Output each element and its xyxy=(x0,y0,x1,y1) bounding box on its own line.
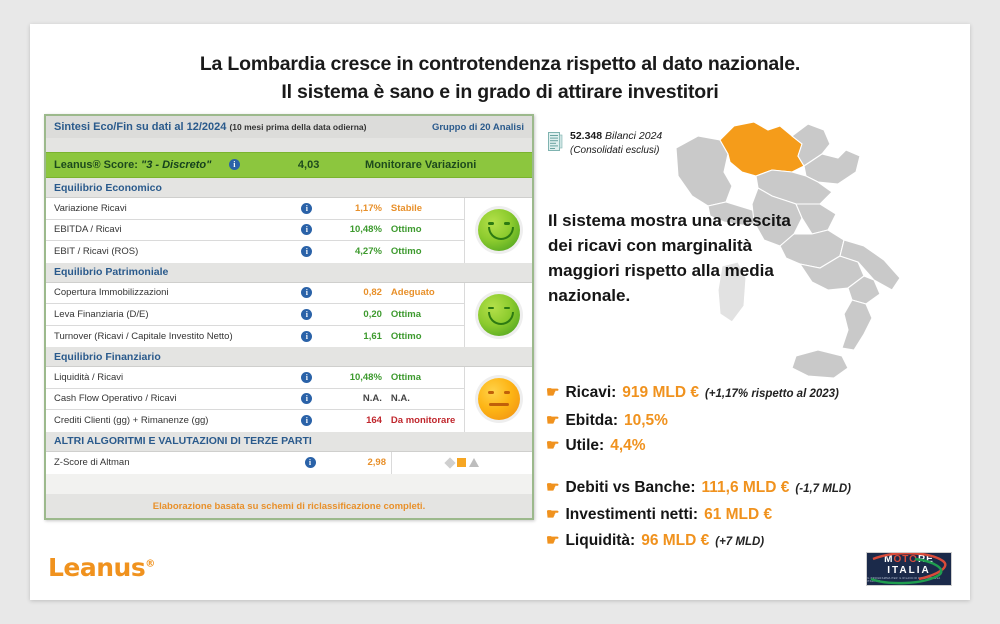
leanus-score-row: Leanus® Score: "3 - Discreto" i 4,03 Mon… xyxy=(46,152,532,178)
zscore-value: 2,98 xyxy=(331,457,391,468)
row-judgement: Adeguato xyxy=(387,287,464,298)
leanus-logo-mark: ® xyxy=(145,559,155,570)
list-item: ☛ Liquidità: 96 MLD € (+7 MLD) xyxy=(546,528,966,556)
motore-swoosh-icon xyxy=(867,553,951,585)
pointing-hand-icon: ☛ xyxy=(546,438,559,453)
table-row: EBIT / Ricavi (ROS) i 4,27% Ottimo xyxy=(46,241,464,263)
panel-header-spacer xyxy=(46,138,532,152)
row-value: N.A. xyxy=(328,393,387,404)
kpi-note: (-1,7 MLD) xyxy=(795,477,851,503)
leanus-logo: Leanus® xyxy=(48,553,155,582)
row-info[interactable]: i xyxy=(286,284,327,302)
kpi-label: Investimenti netti: xyxy=(565,502,698,528)
section-rating-cell xyxy=(464,198,532,263)
panel-header-group: Gruppo di 20 Analisi xyxy=(432,122,524,133)
table-row: EBITDA / Ricavi i 10,48% Ottimo xyxy=(46,220,464,242)
row-value: 164 xyxy=(328,415,387,426)
section-heading-altri-algoritmi: ALTRI ALGORITMI E VALUTAZIONI DI TERZE P… xyxy=(46,432,532,452)
row-judgement: Ottima xyxy=(387,372,464,383)
row-judgement: Ottimo xyxy=(387,331,464,342)
row-value: 0,82 xyxy=(328,287,387,298)
list-item: ☛ Utile: 4,4% xyxy=(546,433,966,459)
row-info[interactable]: i xyxy=(286,368,327,386)
kpi-amount: 10,5% xyxy=(624,408,668,434)
row-value: 10,48% xyxy=(328,224,387,235)
kpi-label: Debiti vs Banche: xyxy=(565,475,695,501)
title-line-2: Il sistema è sano e in grado di attirare… xyxy=(30,78,970,106)
kpi-bullet-list: ☛ Ricavi: 919 MLD € (+1,17% rispetto al … xyxy=(546,380,966,555)
row-label: EBITDA / Ricavi xyxy=(46,224,286,235)
bilanci-counter: 52.348 Bilanci 2024 (Consolidati esclusi… xyxy=(548,130,662,157)
table-row: Variazione Ricavi i 1,17% Stabile xyxy=(46,198,464,220)
kpi-note: (+1,17% rispetto al 2023) xyxy=(705,382,839,408)
info-icon[interactable]: i xyxy=(301,246,312,257)
row-judgement: Stabile xyxy=(387,203,464,214)
row-label: Turnover (Ricavi / Capitale Investito Ne… xyxy=(46,331,286,342)
leanus-score-label-value: "3 - Discreto" xyxy=(141,159,211,171)
section-heading-economico: Equilibrio Economico xyxy=(46,178,532,198)
kpi-label: Liquidità: xyxy=(565,528,635,554)
zscore-rating-symbols xyxy=(391,452,532,474)
row-judgement: N.A. xyxy=(387,393,464,404)
section-rating-cell xyxy=(464,367,532,432)
bilanci-text: 52.348 Bilanci 2024 (Consolidati esclusi… xyxy=(570,130,662,157)
title-line-1: La Lombardia cresce in controtendenza ri… xyxy=(30,50,970,78)
list-item: ☛ Debiti vs Banche: 111,6 MLD € (-1,7 ML… xyxy=(546,475,966,503)
kpi-amount: 4,4% xyxy=(610,433,645,459)
bilanci-number: 52.348 xyxy=(570,130,602,142)
pointing-hand-icon: ☛ xyxy=(546,533,559,548)
triangle-icon xyxy=(469,458,479,467)
zscore-label: Z-Score di Altman xyxy=(46,457,289,468)
info-icon[interactable]: i xyxy=(301,203,312,214)
section-economico: Variazione Ricavi i 1,17% Stabile EBITDA… xyxy=(46,198,532,263)
row-info[interactable]: i xyxy=(286,243,327,261)
list-item: ☛ Ebitda: 10,5% xyxy=(546,408,966,434)
kpi-amount: 96 MLD € xyxy=(641,528,709,554)
row-value: 4,27% xyxy=(328,246,387,257)
row-label: Copertura Immobilizzazioni xyxy=(46,287,286,298)
page-title: La Lombardia cresce in controtendenza ri… xyxy=(30,50,970,106)
document-icon xyxy=(548,132,563,151)
leanus-score-info[interactable]: i xyxy=(211,156,257,174)
row-label: Variazione Ricavi xyxy=(46,203,286,214)
row-label: Liquidità / Ricavi xyxy=(46,372,286,383)
kpi-label: Ricavi: xyxy=(565,380,616,406)
bilanci-label: Bilanci 2024 xyxy=(605,130,662,142)
kpi-group-spacer xyxy=(546,459,966,475)
table-row: Cash Flow Operativo / Ricavi i N.A. N.A. xyxy=(46,389,464,411)
smiley-happy-icon xyxy=(478,294,520,336)
kpi-label: Utile: xyxy=(565,433,604,459)
zscore-info[interactable]: i xyxy=(289,454,331,472)
leanus-score-note: Monitorare Variazioni xyxy=(319,159,532,171)
row-value: 1,61 xyxy=(328,331,387,342)
list-item: ☛ Ricavi: 919 MLD € (+1,17% rispetto al … xyxy=(546,380,966,408)
slide-canvas: La Lombardia cresce in controtendenza ri… xyxy=(30,24,970,600)
section-heading-patrimoniale: Equilibrio Patrimoniale xyxy=(46,263,532,283)
bilanci-line-1: 52.348 Bilanci 2024 xyxy=(570,130,662,144)
diamond-icon xyxy=(444,457,455,468)
kpi-group-2: ☛ Debiti vs Banche: 111,6 MLD € (-1,7 ML… xyxy=(546,475,966,556)
pointing-hand-icon: ☛ xyxy=(546,385,559,400)
info-icon[interactable]: i xyxy=(301,309,312,320)
panel-header-title: Sintesi Eco/Fin su dati al 12/2024 (10 m… xyxy=(54,121,366,133)
section-rating-cell xyxy=(464,283,532,348)
row-info[interactable]: i xyxy=(286,305,327,323)
row-info[interactable]: i xyxy=(286,199,327,217)
row-info[interactable]: i xyxy=(286,390,327,408)
section-patrimoniale: Copertura Immobilizzazioni i 0,82 Adegua… xyxy=(46,283,532,348)
info-icon[interactable]: i xyxy=(229,159,240,170)
info-icon[interactable]: i xyxy=(305,457,316,468)
kpi-amount: 111,6 MLD € xyxy=(702,475,790,501)
panel-header-title-sub: (10 mesi prima della data odierna) xyxy=(229,122,366,132)
list-item: ☛ Investimenti netti: 61 MLD € xyxy=(546,502,966,528)
info-icon[interactable]: i xyxy=(301,372,312,383)
panel-footer-note: Elaborazione basata su schemi di riclass… xyxy=(46,494,532,518)
leanus-score-value: 4,03 xyxy=(257,159,319,171)
right-content: 52.348 Bilanci 2024 (Consolidati esclusi… xyxy=(540,116,960,536)
row-label: Cash Flow Operativo / Ricavi xyxy=(46,393,286,404)
lead-paragraph: Il sistema mostra una crescita dei ricav… xyxy=(548,208,808,308)
row-info[interactable]: i xyxy=(286,412,327,430)
row-info[interactable]: i xyxy=(286,327,327,345)
section-finanziario: Liquidità / Ricavi i 10,48% Ottima Cash … xyxy=(46,367,532,432)
kpi-group-1: ☛ Ricavi: 919 MLD € (+1,17% rispetto al … xyxy=(546,380,966,459)
row-label: EBIT / Ricavi (ROS) xyxy=(46,246,286,257)
info-icon[interactable]: i xyxy=(301,224,312,235)
smiley-happy-icon xyxy=(478,209,520,251)
table-row: Turnover (Ricavi / Capitale Investito Ne… xyxy=(46,326,464,348)
table-row: Liquidità / Ricavi i 10,48% Ottima xyxy=(46,367,464,389)
row-info[interactable]: i xyxy=(286,221,327,239)
kpi-amount: 919 MLD € xyxy=(622,380,699,406)
info-icon[interactable]: i xyxy=(301,331,312,342)
square-icon xyxy=(457,458,466,467)
panel-header-title-main: Sintesi Eco/Fin su dati al 12/2024 xyxy=(54,121,226,133)
row-judgement: Ottimo xyxy=(387,246,464,257)
pointing-hand-icon: ☛ xyxy=(546,480,559,495)
leanus-score-label-prefix: Leanus® Score: xyxy=(54,159,138,171)
info-icon[interactable]: i xyxy=(301,287,312,298)
table-row: Crediti Clienti (gg) + Rimanenze (gg) i … xyxy=(46,410,464,432)
sintesi-eco-fin-panel: Sintesi Eco/Fin su dati al 12/2024 (10 m… xyxy=(44,114,534,520)
row-judgement: Ottimo xyxy=(387,224,464,235)
kpi-note: (+7 MLD) xyxy=(715,530,764,556)
kpi-amount: 61 MLD € xyxy=(704,502,772,528)
info-icon[interactable]: i xyxy=(301,393,312,404)
motore-italia-logo: MOTORE ITALIA IL PROGRAMMA PER IL RILANC… xyxy=(866,552,952,586)
leanus-score-label: Leanus® Score: "3 - Discreto" xyxy=(54,159,211,171)
table-row: Copertura Immobilizzazioni i 0,82 Adegua… xyxy=(46,283,464,305)
panel-header: Sintesi Eco/Fin su dati al 12/2024 (10 m… xyxy=(46,116,532,138)
row-label: Leva Finanziaria (D/E) xyxy=(46,309,286,320)
kpi-label: Ebitda: xyxy=(565,408,618,434)
row-judgement: Da monitorare xyxy=(387,415,464,426)
row-value: 0,20 xyxy=(328,309,387,320)
pointing-hand-icon: ☛ xyxy=(546,413,559,428)
table-row: Leva Finanziaria (D/E) i 0,20 Ottima xyxy=(46,304,464,326)
row-label: Crediti Clienti (gg) + Rimanenze (gg) xyxy=(46,415,286,426)
leanus-logo-text: Leanus xyxy=(48,553,145,582)
info-icon[interactable]: i xyxy=(301,415,312,426)
row-value: 10,48% xyxy=(328,372,387,383)
bilanci-sub: (Consolidati esclusi) xyxy=(570,144,662,158)
row-judgement: Ottima xyxy=(387,309,464,320)
pointing-hand-icon: ☛ xyxy=(546,507,559,522)
section-heading-finanziario: Equilibrio Finanziario xyxy=(46,347,532,367)
row-value: 1,17% xyxy=(328,203,387,214)
smiley-neutral-icon xyxy=(478,378,520,420)
zscore-row: Z-Score di Altman i 2,98 xyxy=(46,452,532,474)
